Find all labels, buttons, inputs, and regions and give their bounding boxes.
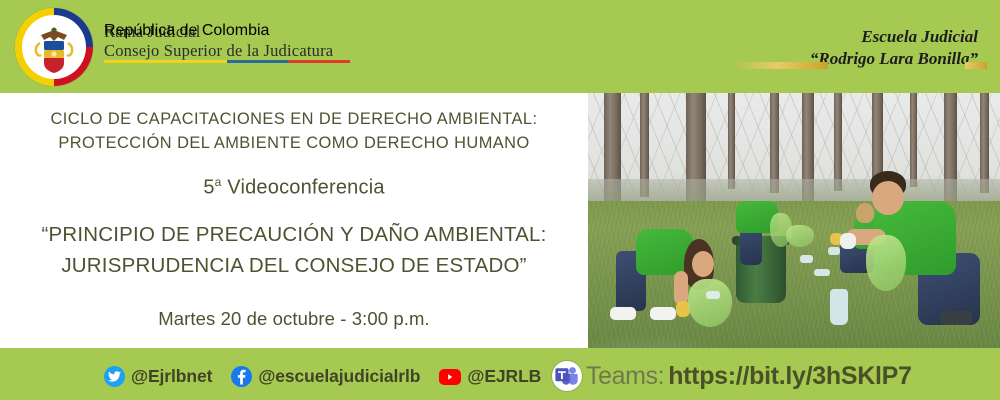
facebook-icon <box>231 366 252 387</box>
social-links: @Ejrlbnet @escuelajudicialrlb @EJRLB <box>104 366 553 387</box>
title-line-1: “PRINCIPIO DE PRECAUCIÓN Y DAÑO AMBIENTA… <box>0 219 588 250</box>
session-label: Videoconferencia <box>222 177 385 199</box>
header-bar: Rama Judicial Consejo Superior de la Jud… <box>0 0 1000 93</box>
school-line-2: “Rodrigo Lara Bonilla” <box>810 48 978 70</box>
cycle-line-1: CICLO DE CAPACITACIONES EN DE DERECHO AM… <box>0 107 588 131</box>
social-item-facebook[interactable]: @escuelajudicialrlb <box>231 366 420 387</box>
gold-bar-right <box>965 62 987 69</box>
youtube-icon <box>439 369 461 385</box>
facebook-handle: @escuelajudicialrlb <box>258 366 420 387</box>
session-number-label: 5a Videoconferencia <box>0 175 588 200</box>
youtube-handle: @EJRLB <box>467 366 541 387</box>
content-panel: CICLO DE CAPACITACIONES EN DE DERECHO AM… <box>0 93 588 348</box>
org-line-2: Consejo Superior de la Judicatura <box>104 41 534 60</box>
social-item-twitter[interactable]: @Ejrlbnet <box>104 366 212 387</box>
session-number: 5 <box>203 177 214 199</box>
teams-link[interactable]: Teams: https://bit.ly/3hSKlP7 <box>552 361 912 391</box>
school-line-1: Escuela Judicial <box>810 26 978 48</box>
microsoft-teams-icon <box>552 361 582 391</box>
twitter-handle: @Ejrlbnet <box>131 366 212 387</box>
social-item-youtube[interactable]: @EJRLB <box>439 366 541 387</box>
event-date: Martes 20 de octubre - 3:00 p.m. <box>0 308 588 330</box>
cycle-heading: CICLO DE CAPACITACIONES EN DE DERECHO AM… <box>0 107 588 155</box>
coat-of-arms-svg <box>15 8 93 86</box>
teams-url[interactable]: https://bit.ly/3hSKlP7 <box>668 362 911 391</box>
title-line-2: JURISPRUDENCIA DEL CONSEJO DE ESTADO” <box>0 250 588 281</box>
volunteers-cleanup-photo <box>588 93 1000 348</box>
org-line-3: República de Colombia <box>104 22 534 40</box>
colombia-tricolor-rule <box>104 60 350 63</box>
teams-label: Teams: <box>586 362 664 391</box>
session-ordinal: a <box>215 175 222 189</box>
cycle-line-2: PROTECCIÓN DEL AMBIENTE COMO DERECHO HUM… <box>0 131 588 155</box>
event-poster: Rama Judicial Consejo Superior de la Jud… <box>0 0 1000 400</box>
colombia-coat-of-arms-icon <box>15 8 93 86</box>
conference-title: “PRINCIPIO DE PRECAUCIÓN Y DAÑO AMBIENTA… <box>0 219 588 281</box>
gold-bar-left <box>736 62 828 69</box>
twitter-icon <box>104 366 125 387</box>
school-name: Escuela Judicial “Rodrigo Lara Bonilla” <box>810 26 978 70</box>
